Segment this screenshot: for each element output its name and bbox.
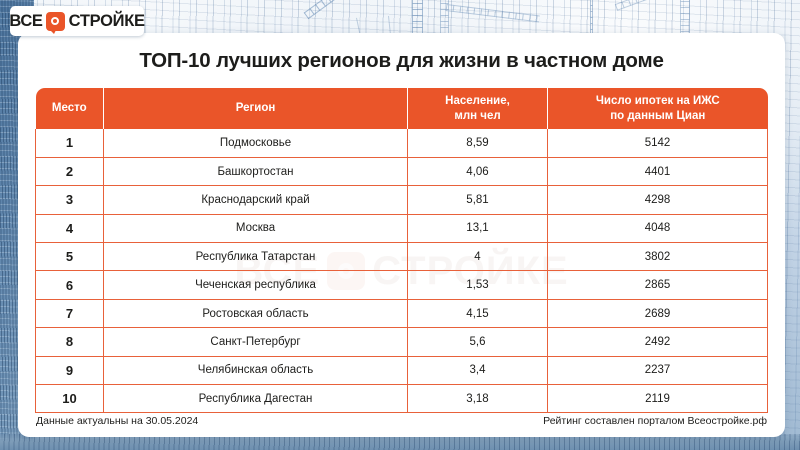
table-body: 1Подмосковье8,5951422Башкортостан4,06440… xyxy=(36,129,768,413)
table-row: 9Челябинская область3,42237 xyxy=(36,356,768,384)
table-row: 10Республика Дагестан3,182119 xyxy=(36,385,768,413)
cell-rank: 8 xyxy=(36,328,104,356)
table-row: 5Республика Татарстан43802 xyxy=(36,243,768,271)
cell-population: 4 xyxy=(408,243,548,271)
cell-population: 3,18 xyxy=(408,385,548,413)
site-logo[interactable]: ВСЕ СТРОЙКЕ xyxy=(10,6,144,36)
cell-region: Краснодарский край xyxy=(104,186,408,214)
cell-rank: 1 xyxy=(36,129,104,157)
cell-rank: 4 xyxy=(36,214,104,242)
ranking-table: Место Регион Население, млн чел Число ип… xyxy=(35,88,768,413)
cell-mortgages: 4401 xyxy=(548,157,768,185)
cell-population: 3,4 xyxy=(408,356,548,384)
table-row: 8Санкт-Петербург5,62492 xyxy=(36,328,768,356)
cell-rank: 10 xyxy=(36,385,104,413)
cell-population: 5,6 xyxy=(408,328,548,356)
cell-region: Челябинская область xyxy=(104,356,408,384)
cell-population: 4,06 xyxy=(408,157,548,185)
cell-region: Республика Татарстан xyxy=(104,243,408,271)
cell-mortgages: 5142 xyxy=(548,129,768,157)
table-row: 3Краснодарский край5,814298 xyxy=(36,186,768,214)
page-title: ТОП-10 лучших регионов для жизни в частн… xyxy=(18,49,785,73)
cell-population: 4,15 xyxy=(408,299,548,327)
column-header-population-line2: млн чел xyxy=(454,110,500,122)
cell-rank: 6 xyxy=(36,271,104,299)
column-header-mortgages-line1: Число ипотек на ИЖС xyxy=(596,95,720,107)
cell-population: 5,81 xyxy=(408,186,548,214)
table-header-row: Место Регион Население, млн чел Число ип… xyxy=(36,88,768,129)
column-header-rank: Место xyxy=(36,88,104,129)
cell-mortgages: 4298 xyxy=(548,186,768,214)
column-header-mortgages: Число ипотек на ИЖС по данным Циан xyxy=(548,88,768,129)
content-card: ВСЕ СТРОЙКЕ ТОП-10 лучших регионов для ж… xyxy=(18,33,785,437)
column-header-region: Регион xyxy=(104,88,408,129)
table-row: 4Москва13,14048 xyxy=(36,214,768,242)
cell-rank: 7 xyxy=(36,299,104,327)
column-header-population: Население, млн чел xyxy=(408,88,548,129)
cell-rank: 9 xyxy=(36,356,104,384)
table-row: 7Ростовская область4,152689 xyxy=(36,299,768,327)
table-row: 6Чеченская республика1,532865 xyxy=(36,271,768,299)
cell-mortgages: 4048 xyxy=(548,214,768,242)
table-row: 1Подмосковье8,595142 xyxy=(36,129,768,157)
footer-source: Рейтинг составлен порталом Всеостройке.р… xyxy=(543,415,767,427)
cell-region: Чеченская республика xyxy=(104,271,408,299)
cell-mortgages: 2492 xyxy=(548,328,768,356)
column-header-mortgages-line2: по данным Циан xyxy=(610,110,705,122)
column-header-population-line1: Население, xyxy=(445,95,510,107)
cell-mortgages: 3802 xyxy=(548,243,768,271)
logo-word-left: ВСЕ xyxy=(9,13,42,30)
cell-population: 1,53 xyxy=(408,271,548,299)
card-footer: Данные актуальны на 30.05.2024 Рейтинг с… xyxy=(36,415,767,427)
cell-rank: 2 xyxy=(36,157,104,185)
cell-region: Ростовская область xyxy=(104,299,408,327)
footer-data-date: Данные актуальны на 30.05.2024 xyxy=(36,415,198,427)
cell-region: Подмосковье xyxy=(104,129,408,157)
cell-rank: 3 xyxy=(36,186,104,214)
speech-bubble-o-icon xyxy=(46,12,65,31)
ranking-table-wrapper: Место Регион Население, млн чел Число ип… xyxy=(35,88,768,413)
cell-mortgages: 2689 xyxy=(548,299,768,327)
cell-population: 13,1 xyxy=(408,214,548,242)
cell-region: Республика Дагестан xyxy=(104,385,408,413)
table-header: Место Регион Население, млн чел Число ип… xyxy=(36,88,768,129)
logo-word-right: СТРОЙКЕ xyxy=(69,13,145,30)
cell-rank: 5 xyxy=(36,243,104,271)
cell-mortgages: 2119 xyxy=(548,385,768,413)
cell-mortgages: 2237 xyxy=(548,356,768,384)
cell-region: Москва xyxy=(104,214,408,242)
table-row: 2Башкортостан4,064401 xyxy=(36,157,768,185)
cell-region: Башкортостан xyxy=(104,157,408,185)
cell-mortgages: 2865 xyxy=(548,271,768,299)
cell-region: Санкт-Петербург xyxy=(104,328,408,356)
cell-population: 8,59 xyxy=(408,129,548,157)
